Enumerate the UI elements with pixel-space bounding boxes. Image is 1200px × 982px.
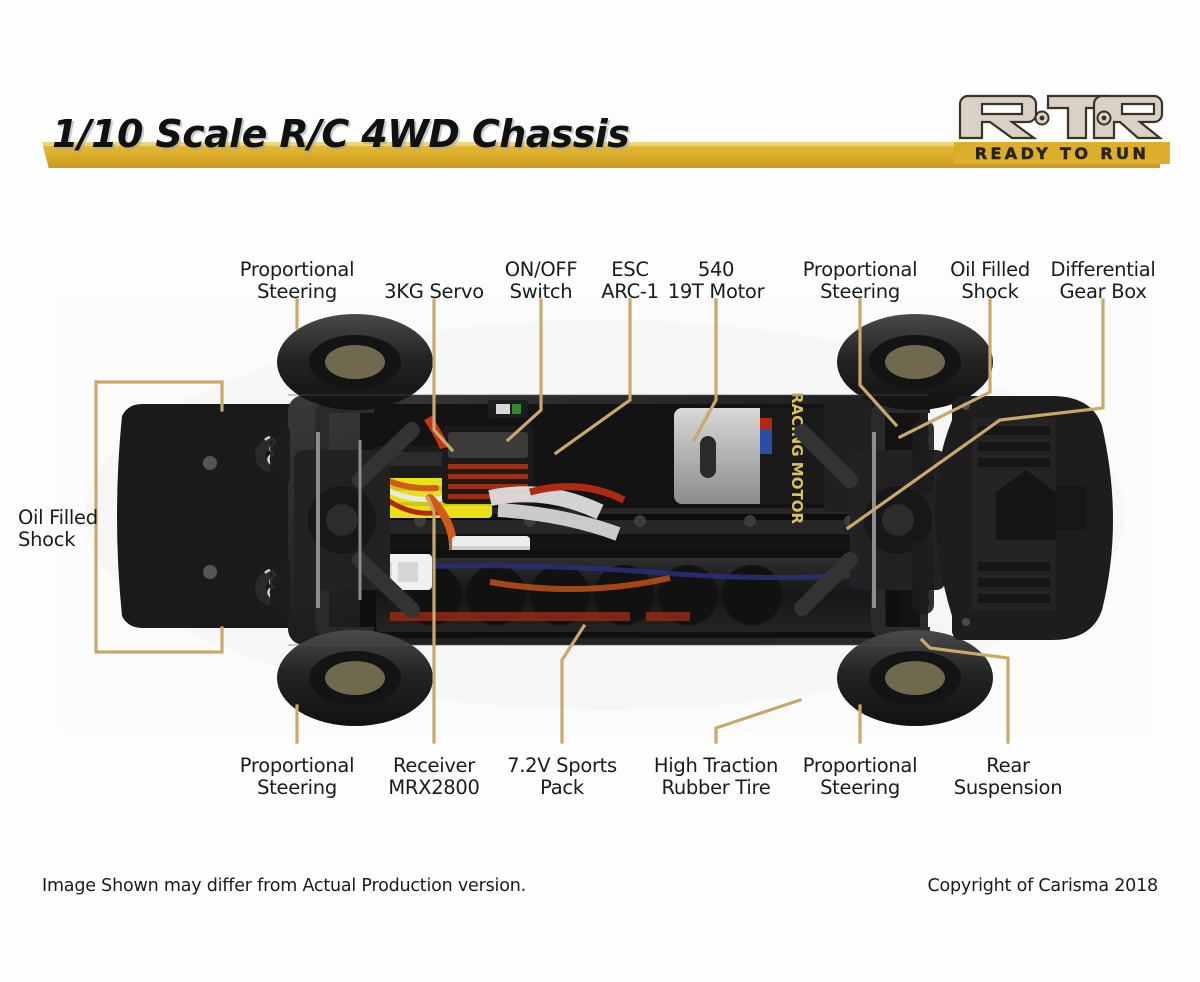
differential-gearbox-cover [935,396,1113,640]
page-header: 1/10 Scale R/C 4WD Chassis READY TO RUN [0,96,1200,182]
callout-prop-steering-rear: Proportional Steering [803,259,917,303]
callout-high-traction-rubber-tire: High Traction Rubber Tire [654,755,778,799]
callout-oil-filled-shock-front: Oil Filled Shock [18,507,98,551]
callout-prop-steering-front: Proportional Steering [240,259,354,303]
callout-onoff-switch: ON/OFF Switch [505,259,578,303]
callout-3kg-servo: 3KG Servo [384,281,484,303]
front-bumper-plate [117,404,292,628]
callout-rear-suspension: Rear Suspension [954,755,1063,799]
callout-72v-sports-pack: 7.2V Sports Pack [507,755,617,799]
callout-differential-gear-box: Differential Gear Box [1051,259,1156,303]
callout-receiver-mrx2800: Receiver MRX2800 [388,755,479,799]
footer-disclaimer: Image Shown may differ from Actual Produ… [42,876,526,896]
callout-oil-filled-shock-rear: Oil Filled Shock [950,259,1030,303]
rtr-logo: READY TO RUN [952,90,1172,174]
footer-copyright: Copyright of Carisma 2018 [928,876,1159,896]
page-title: 1/10 Scale R/C 4WD Chassis [52,112,629,156]
callout-prop-steering-front-bottom: Proportional Steering [240,755,354,799]
rtr-tagline-text: READY TO RUN [975,144,1150,163]
page-root: 1/10 Scale R/C 4WD Chassis READY TO RUN [0,0,1200,982]
chassis-photo: RACING MOTOR [60,300,1150,730]
onoff-switch-part [488,400,528,418]
motor-label-text: RACING MOTOR [788,392,806,524]
callout-esc-arc1: ESC ARC-1 [601,259,658,303]
callout-prop-steering-rear-bottom: Proportional Steering [803,755,917,799]
callout-540-motor: 540 19T Motor [668,259,765,303]
